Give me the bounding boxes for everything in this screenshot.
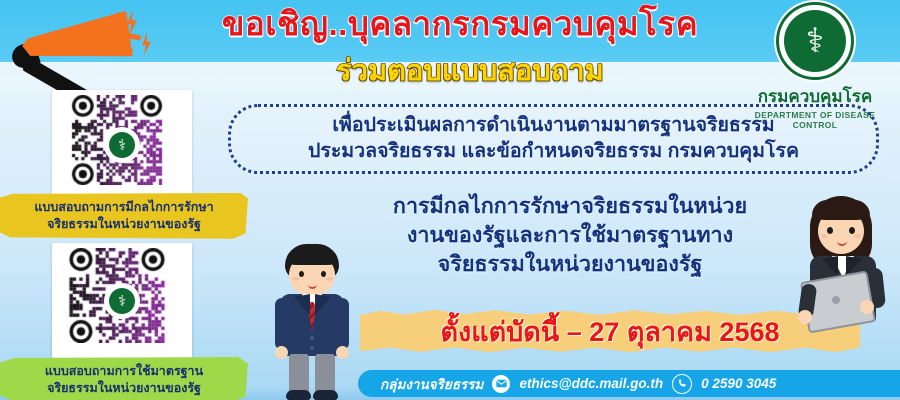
date-range-text: ตั้งแต่บัดนี้ – 27 ตุลาคม 2568 <box>440 310 779 353</box>
illustration-businessman <box>272 244 352 400</box>
illustration-businesswoman <box>796 196 892 356</box>
qr2-caption-line-1: แบบสอบถามการใช้มาตรฐาน <box>4 363 244 380</box>
contact-bar: กลุ่มงานจริยธรรม ethics@ddc.mail.go.th 0… <box>358 370 900 397</box>
megaphone-icon <box>8 4 168 100</box>
caduceus-icon: ⚕ <box>109 288 135 314</box>
qr-caption-ethics-mechanism: แบบสอบถามการมีกลไกการรักษา จริยธรรมในหน่… <box>0 193 248 239</box>
contact-phone[interactable]: 0 2590 3045 <box>701 376 776 391</box>
qr-caption-ethics-standard: แบบสอบถามการใช้มาตรฐาน จริยธรรมในหน่วยงา… <box>0 357 248 400</box>
man-cheek-left <box>292 277 299 281</box>
main-line-2: งานของรัฐและการใช้มาตรฐานทาง <box>330 221 810 250</box>
man-hand-right <box>336 346 349 359</box>
man-arm-left <box>275 298 289 350</box>
megaphone-bolt-icon <box>141 32 152 56</box>
man-arm-right <box>335 298 349 350</box>
qr-code-ethics-mechanism[interactable]: ⚕ <box>52 90 192 200</box>
woman-cheek-right <box>854 234 861 238</box>
man-eye-left <box>299 271 304 277</box>
purpose-line-2: ประมวลจริยธรรม และข้อกำหนดจริยธรรม กรมคว… <box>308 139 799 165</box>
woman-eye-right <box>849 227 855 234</box>
main-line-1: การมีกลไกการรักษาจริยธรรมในหน่วย <box>330 192 810 221</box>
banner-headline: ขอเชิญ..บุคลากรกรมควบคุมโรค <box>170 6 750 42</box>
woman-eye-left <box>827 227 833 234</box>
purpose-dotted-box: เพื่อประเมินผลการดำเนินงานตามมาตรฐานจริย… <box>228 104 879 174</box>
qr-center-logo: ⚕ <box>104 127 140 163</box>
banner-subheadline: ร่วมตอบแบบสอบถาม <box>190 56 750 88</box>
qr1-caption-line-2: จริยธรรมในหน่วยงานของรัฐ <box>4 216 244 233</box>
man-leg-left <box>289 354 309 394</box>
qr-center-logo: ⚕ <box>104 283 140 319</box>
man-shoe-right <box>313 390 338 400</box>
contact-group-name: กลุ่มงานจริยธรรม <box>380 373 483 395</box>
qr2-caption-line-2: จริยธรรมในหน่วยงานของรัฐ <box>4 380 244 397</box>
moph-seal-icon: ⚕ <box>776 2 854 80</box>
man-jacket-button <box>310 346 314 350</box>
phone-icon <box>672 374 692 394</box>
woman-fringe <box>812 200 870 220</box>
contact-email[interactable]: ethics@ddc.mail.go.th <box>519 376 663 391</box>
man-eye-right <box>321 271 326 277</box>
main-description: การมีกลไกการรักษาจริยธรรมในหน่วย งานของร… <box>330 192 810 278</box>
qr-code-ethics-standard[interactable]: ⚕ <box>52 243 192 358</box>
email-icon <box>492 375 510 393</box>
caduceus-icon: ⚕ <box>806 24 824 58</box>
man-leg-right <box>315 354 335 394</box>
moph-seal-inner: ⚕ <box>784 10 846 72</box>
main-line-3: จริยธรรมในหน่วยงานของรัฐ <box>330 250 810 279</box>
caduceus-icon: ⚕ <box>109 132 135 158</box>
man-fringe <box>286 248 338 265</box>
man-cheek-right <box>326 277 333 281</box>
qr1-caption-line-1: แบบสอบถามการมีกลไกการรักษา <box>4 199 244 216</box>
woman-cheek-left <box>821 234 828 238</box>
date-ribbon: ตั้งแต่บัดนี้ – 27 ตุลาคม 2568 <box>360 308 860 354</box>
ddc-ethics-survey-banner: ขอเชิญ..บุคลากรกรมควบคุมโรค ร่วมตอบแบบสอ… <box>0 0 900 400</box>
purpose-line-1: เพื่อประเมินผลการดำเนินงานตามมาตรฐานจริย… <box>332 113 774 139</box>
woman-hand-right <box>860 300 874 314</box>
man-jacket-button <box>310 336 314 340</box>
woman-hand-left <box>798 310 812 324</box>
man-shoe-left <box>286 390 311 400</box>
man-hand-left <box>275 346 288 359</box>
